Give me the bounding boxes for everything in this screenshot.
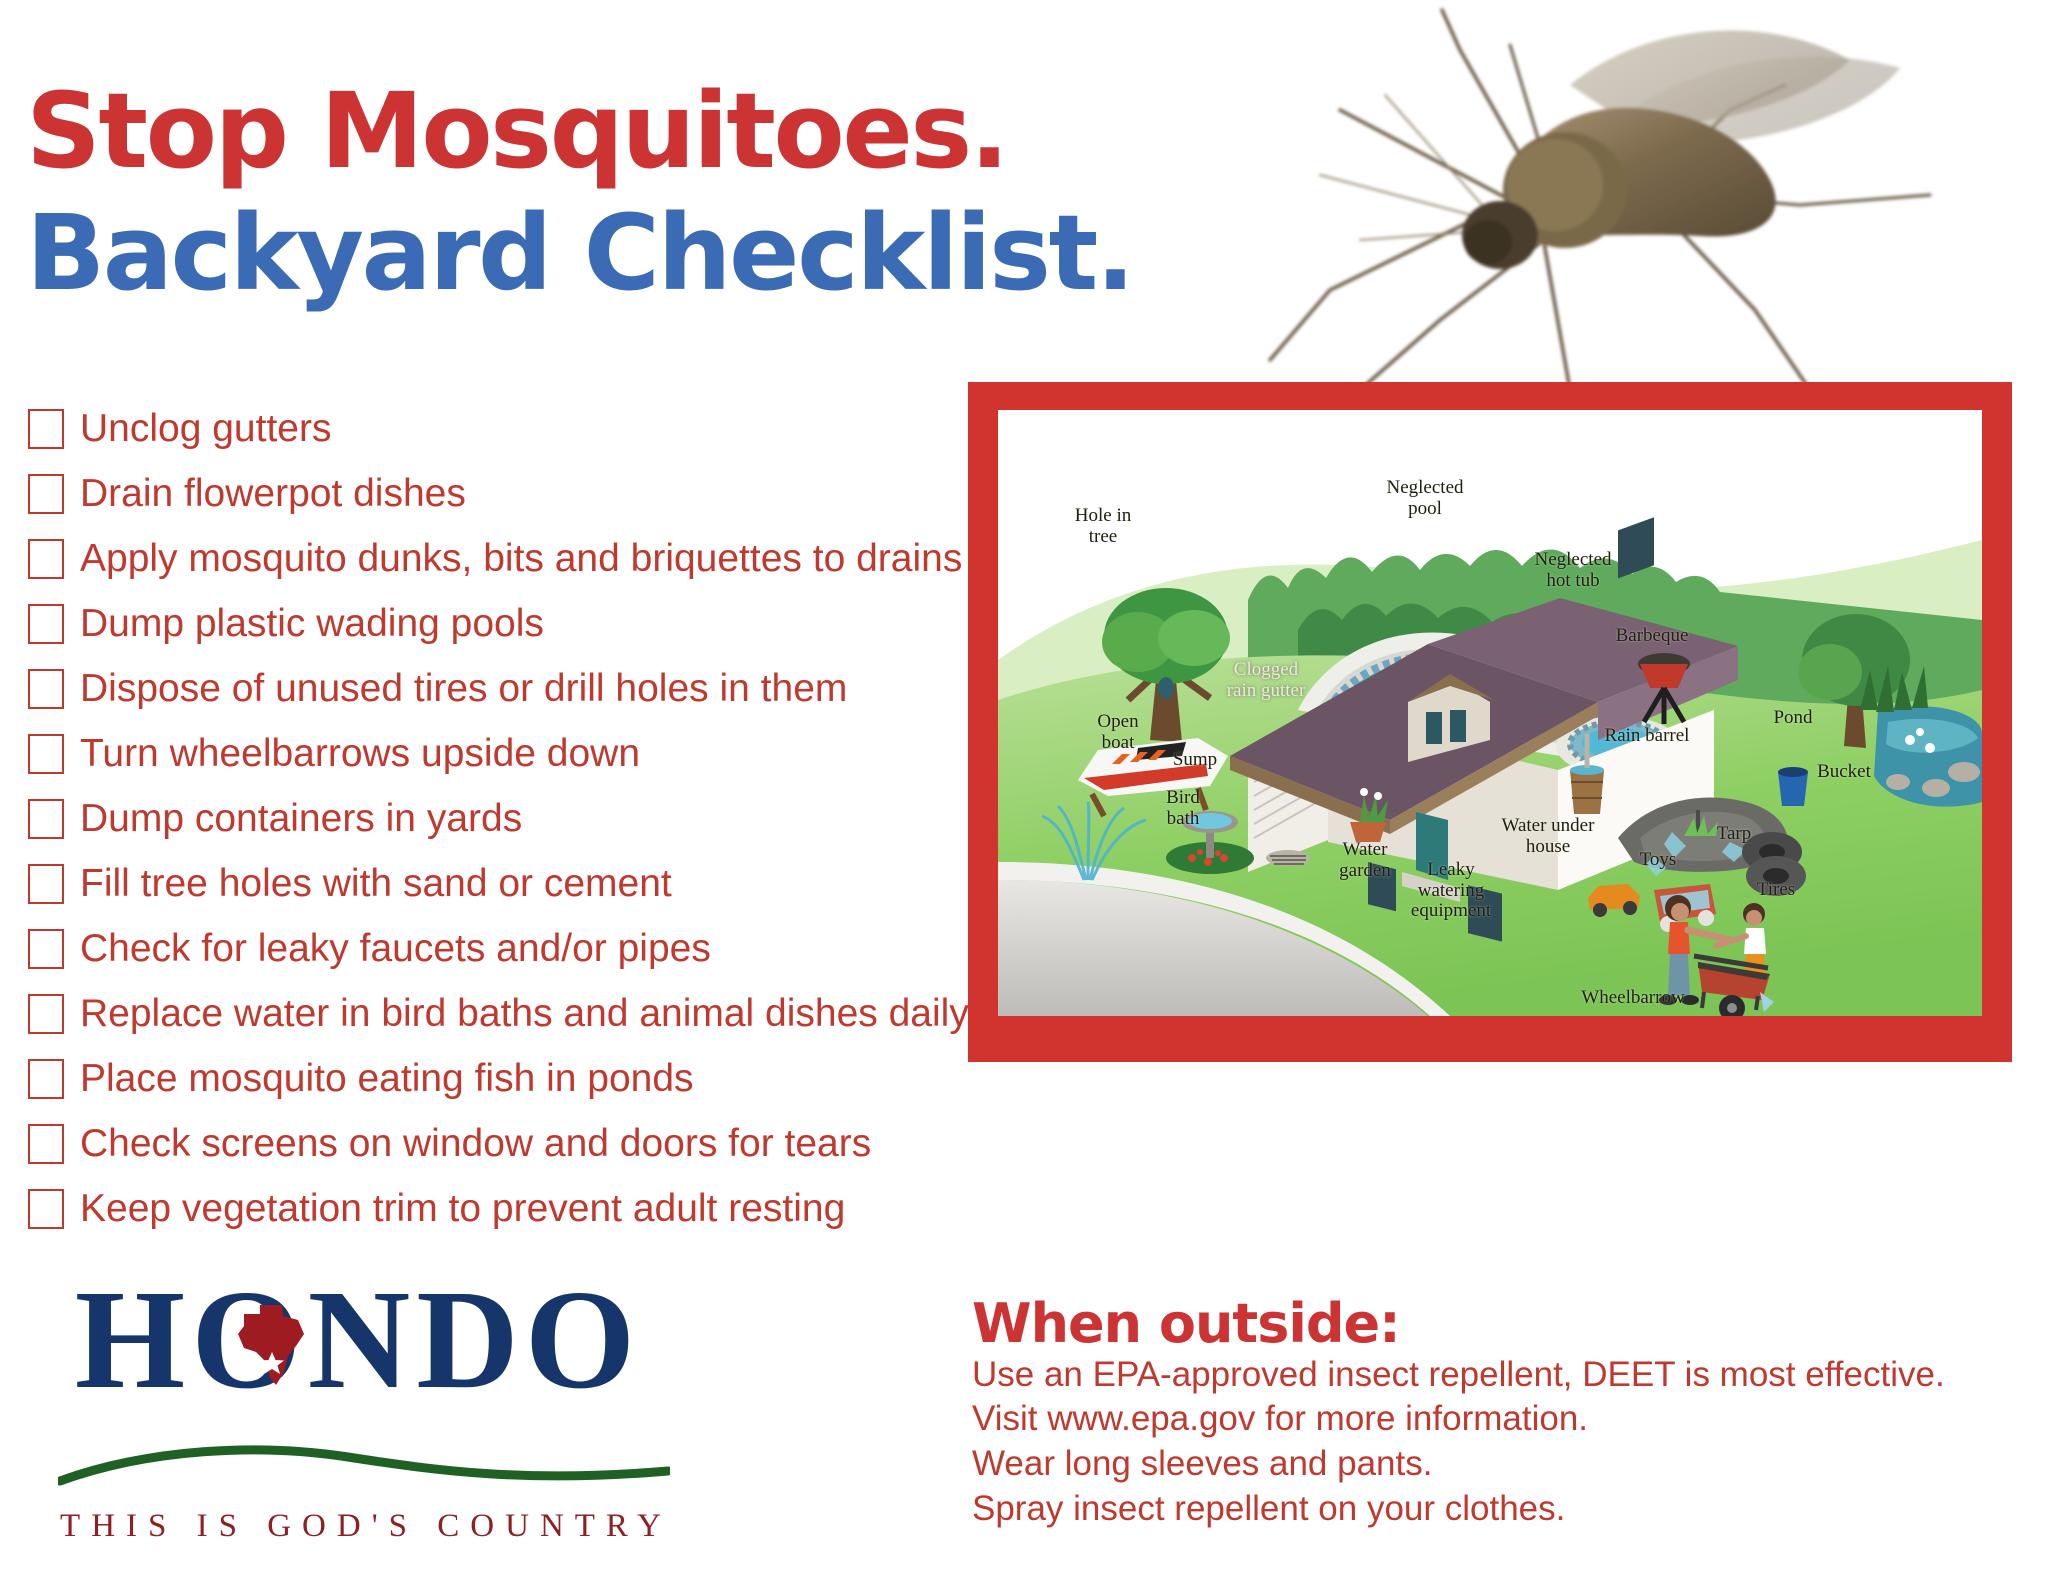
checklist-item-label: Drain flowerpot dishes [80,474,466,513]
list-item[interactable]: Check screens on window and doors for te… [28,1111,958,1176]
list-item[interactable]: Turn wheelbarrows upside down [28,721,958,786]
illo-label-toys: Toys [1628,850,1688,871]
checklist-item-label: Unclog gutters [80,409,331,448]
illo-label-neglected-hot-tub: Neglected hot tub [1518,550,1628,591]
checklist-item-label: Dump containers in yards [80,799,522,838]
checkbox-icon[interactable] [28,799,64,839]
illo-label-bird-bath: Bird bath [1148,788,1218,829]
backyard-illustration-frame: Hole in tree Neglected pool Neglected ho… [968,382,2012,1062]
headline-line-1: Stop Mosquitoes. [26,76,1306,186]
when-outside-section: When outside: Use an EPA-approved insect… [972,1296,2032,1532]
page-title: Stop Mosquitoes. Backyard Checklist. [26,76,1306,308]
illo-label-hole-in-tree: Hole in tree [1058,506,1148,547]
when-outside-line: Wear long sleeves and pants. [972,1442,2032,1487]
checkbox-icon[interactable] [28,539,64,579]
illo-label-neglected-pool: Neglected pool [1370,478,1480,519]
checkbox-icon[interactable] [28,864,64,904]
checklist-item-label: Apply mosquito dunks, bits and briquette… [80,539,962,578]
checklist-item-label: Check screens on window and doors for te… [80,1124,871,1163]
illo-label-tarp: Tarp [1704,824,1764,845]
logo-wordmark: HONDO [48,1268,668,1410]
checkbox-icon[interactable] [28,604,64,644]
when-outside-line: Visit www.epa.gov for more information. [972,1397,2032,1442]
illo-label-tires: Tires [1746,880,1806,901]
checklist-item-label: Turn wheelbarrows upside down [80,734,640,773]
list-item[interactable]: Keep vegetation trim to prevent adult re… [28,1176,958,1241]
when-outside-line: Spray insect repellent on your clothes. [972,1487,2032,1532]
illo-label-rain-barrel: Rain barrel [1592,726,1702,747]
illo-label-pond: Pond [1758,708,1828,729]
checklist-item-label: Keep vegetation trim to prevent adult re… [80,1189,845,1228]
backyard-illustration: Hole in tree Neglected pool Neglected ho… [998,410,1982,1016]
list-item[interactable]: Dump plastic wading pools [28,591,958,656]
illo-label-sump: Sump [1160,750,1230,771]
checklist: Unclog gutters Drain flowerpot dishes Ap… [28,396,958,1241]
checkbox-icon[interactable] [28,474,64,514]
checkbox-icon[interactable] [28,1189,64,1229]
checklist-item-label: Fill tree holes with sand or cement [80,864,672,903]
checkbox-icon[interactable] [28,409,64,449]
illo-label-open-boat: Open boat [1078,712,1158,753]
illo-label-water-under-house: Water under house [1488,816,1608,857]
mosquito-photo [1210,0,2048,390]
checkbox-icon[interactable] [28,1124,64,1164]
list-item[interactable]: Drain flowerpot dishes [28,461,958,526]
headline-line-2: Backyard Checklist. [26,198,1306,308]
hondo-logo: HONDO THIS IS GOD'S COUNTRY [48,1268,698,1568]
checkbox-icon[interactable] [28,1059,64,1099]
list-item[interactable]: Dispose of unused tires or drill holes i… [28,656,958,721]
checklist-item-label: Check for leaky faucets and/or pipes [80,929,711,968]
swoosh-icon [58,1443,670,1493]
checklist-item-label: Replace water in bird baths and animal d… [80,994,969,1033]
checkbox-icon[interactable] [28,929,64,969]
list-item[interactable]: Dump containers in yards [28,786,958,851]
list-item[interactable]: Check for leaky faucets and/or pipes [28,916,958,981]
poster-canvas: Stop Mosquitoes. Backyard Checklist. [0,0,2048,1586]
illo-label-bucket: Bucket [1804,762,1884,783]
list-item[interactable]: Apply mosquito dunks, bits and briquette… [28,526,958,591]
logo-tagline: THIS IS GOD'S COUNTRY [60,1508,672,1545]
illo-label-clogged-rain-gutter: Clogged rain gutter [1206,660,1326,701]
checklist-item-label: Dump plastic wading pools [80,604,544,643]
when-outside-line: Use an EPA-approved insect repellent, DE… [972,1353,2032,1398]
checkbox-icon[interactable] [28,734,64,774]
checklist-item-label: Dispose of unused tires or drill holes i… [80,669,847,708]
illo-label-barbeque: Barbeque [1602,626,1702,647]
illo-label-wheelbarrow: Wheelbarrow [1568,988,1698,1009]
list-item[interactable]: Fill tree holes with sand or cement [28,851,958,916]
when-outside-title: When outside: [972,1296,2032,1353]
checkbox-icon[interactable] [28,994,64,1034]
list-item[interactable]: Unclog gutters [28,396,958,461]
list-item[interactable]: Replace water in bird baths and animal d… [28,981,958,1046]
checkbox-icon[interactable] [28,669,64,709]
list-item[interactable]: Place mosquito eating fish in ponds [28,1046,958,1111]
illo-label-leaky-watering-equipment: Leaky watering equipment [1396,860,1506,922]
checklist-item-label: Place mosquito eating fish in ponds [80,1059,694,1098]
